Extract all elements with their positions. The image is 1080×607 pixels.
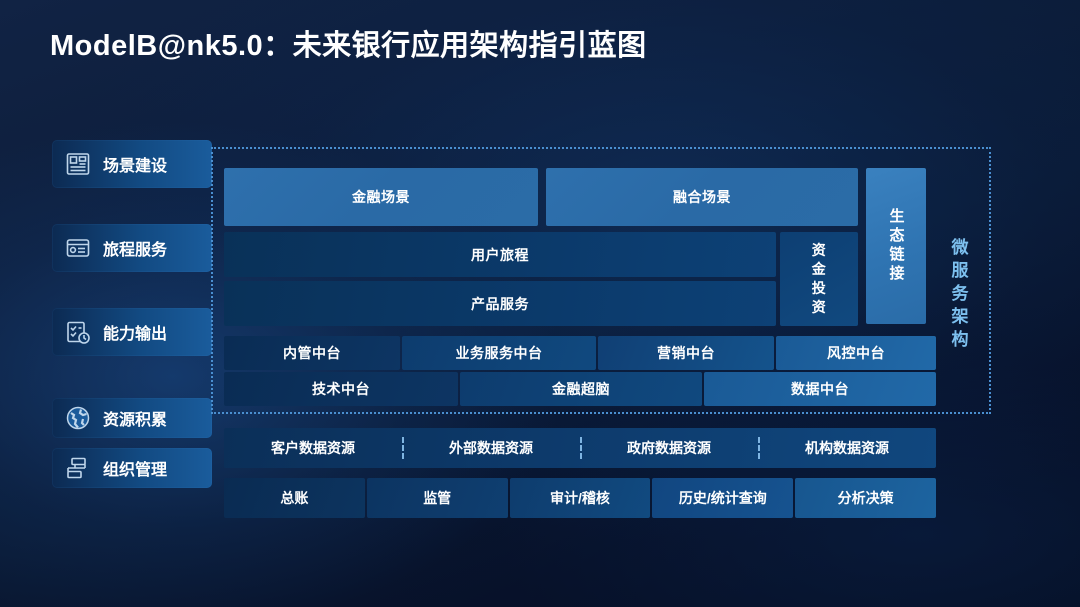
sidebar-item-label: 组织管理 bbox=[103, 456, 167, 480]
layout-grid-icon bbox=[64, 150, 92, 178]
box-risk-control-midend[interactable]: 风控中台 bbox=[776, 336, 936, 370]
org-chart-icon bbox=[64, 454, 92, 482]
sidebar-item-resource[interactable]: 资源积累 bbox=[52, 398, 212, 438]
box-product-service[interactable]: 产品服务 bbox=[224, 281, 776, 326]
sidebar-item-label: 资源积累 bbox=[103, 406, 167, 430]
resource-cell-government[interactable]: 政府数据资源 bbox=[580, 428, 758, 468]
box-data-midend[interactable]: 数据中台 bbox=[704, 372, 936, 406]
globe-icon bbox=[64, 404, 92, 432]
org-cell-regulation[interactable]: 监管 bbox=[367, 478, 508, 518]
box-fund-investment[interactable]: 资金投资 bbox=[780, 232, 858, 326]
page-title: ModelB@nk5.0：未来银行应用架构指引蓝图 bbox=[50, 22, 647, 64]
box-internal-midend[interactable]: 内管中台 bbox=[224, 336, 400, 370]
checklist-clock-icon bbox=[64, 318, 92, 346]
sidebar-item-scene[interactable]: 场景建设 bbox=[52, 140, 212, 188]
resource-cell-customer[interactable]: 客户数据资源 bbox=[224, 428, 402, 468]
sidebar: 场景建设 旅程服务 bbox=[52, 140, 212, 526]
sidebar-item-journey[interactable]: 旅程服务 bbox=[52, 224, 212, 272]
box-financial-scene[interactable]: 金融场景 bbox=[224, 168, 538, 226]
resource-row: 客户数据资源 外部数据资源 政府数据资源 机构数据资源 bbox=[224, 428, 936, 468]
resource-cell-institution[interactable]: 机构数据资源 bbox=[758, 428, 936, 468]
sidebar-item-capability[interactable]: 能力输出 bbox=[52, 308, 212, 356]
box-fund-investment-label: 资金投资 bbox=[805, 241, 833, 317]
sidebar-item-label: 旅程服务 bbox=[103, 236, 167, 260]
box-integrated-scene[interactable]: 融合场景 bbox=[546, 168, 858, 226]
box-financial-brain[interactable]: 金融超脑 bbox=[460, 372, 702, 406]
sidebar-item-organization[interactable]: 组织管理 bbox=[52, 448, 212, 488]
org-cell-history-query[interactable]: 历史/统计查询 bbox=[652, 478, 793, 518]
box-technology-midend[interactable]: 技术中台 bbox=[224, 372, 458, 406]
organization-row: 总账 监管 审计/稽核 历史/统计查询 分析决策 bbox=[224, 478, 936, 518]
slide-canvas: ModelB@nk5.0：未来银行应用架构指引蓝图 场景建设 bbox=[0, 0, 1080, 607]
resource-cell-external[interactable]: 外部数据资源 bbox=[402, 428, 580, 468]
org-cell-analysis-decision[interactable]: 分析决策 bbox=[795, 478, 936, 518]
box-business-service-midend[interactable]: 业务服务中台 bbox=[402, 336, 596, 370]
card-id-icon bbox=[64, 234, 92, 262]
box-eco-link[interactable]: 生态链接 bbox=[866, 168, 926, 324]
sidebar-item-label: 能力输出 bbox=[103, 320, 167, 344]
org-cell-audit[interactable]: 审计/稽核 bbox=[510, 478, 651, 518]
org-cell-general-ledger[interactable]: 总账 bbox=[224, 478, 365, 518]
sidebar-item-label: 场景建设 bbox=[103, 152, 167, 176]
box-marketing-midend[interactable]: 营销中台 bbox=[598, 336, 774, 370]
label-microservice-architecture: 微服务架构 bbox=[936, 230, 980, 360]
box-user-journey[interactable]: 用户旅程 bbox=[224, 232, 776, 277]
